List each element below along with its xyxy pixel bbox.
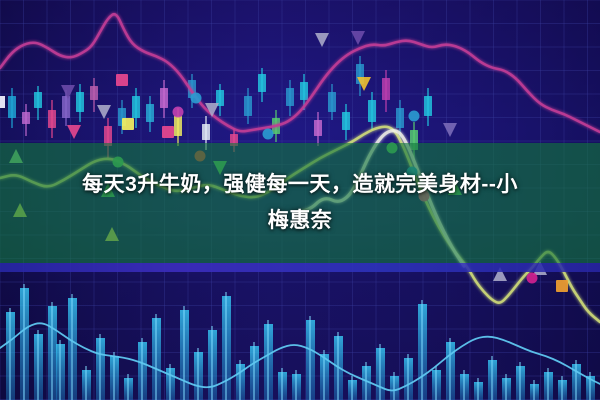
caption-overlay: 每天3升牛奶，强健每一天，造就完美身材--小 梅惠奈 [0,143,600,263]
edge-tick-marker [0,96,5,108]
caption-line-2: 梅惠奈 [268,203,333,239]
caption-line-1: 每天3升牛奶，强健每一天，造就完美身材--小 [82,167,518,203]
stock-chart-banner: 每天3升牛奶，强健每一天，造就完美身材--小 梅惠奈 [0,0,600,400]
